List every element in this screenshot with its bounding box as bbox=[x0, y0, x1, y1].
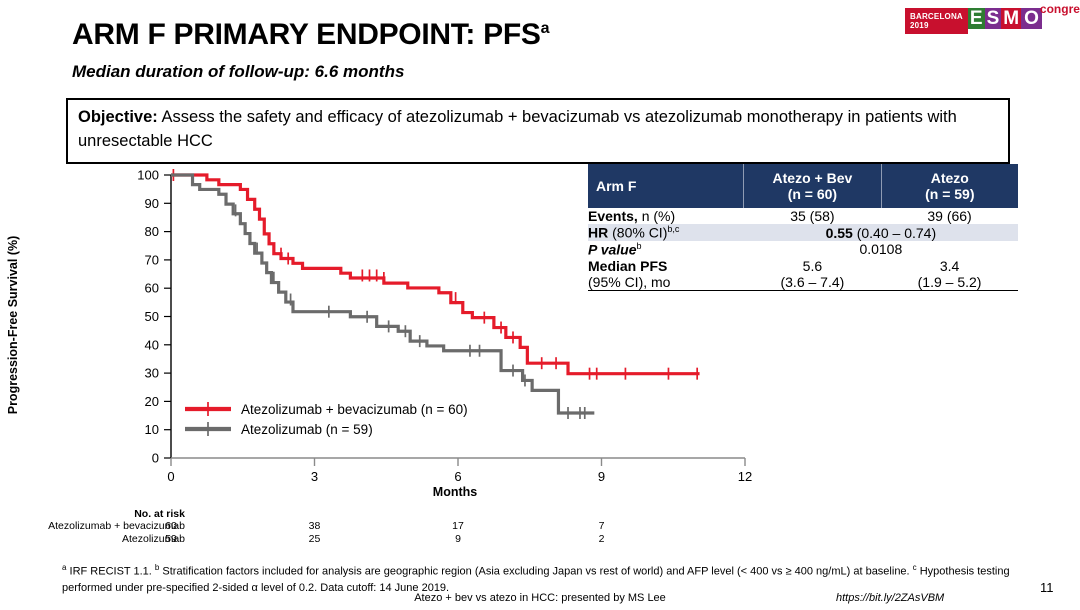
row-value-atezo-line1: 3.4 bbox=[881, 258, 1018, 274]
y-tick-label: 40 bbox=[145, 337, 159, 352]
row-value-atezo-bev-line2: (3.6 – 7.4) bbox=[744, 274, 881, 290]
y-tick-label: 100 bbox=[137, 168, 159, 183]
row-value-atezo-line1: 39 (66) bbox=[881, 208, 1018, 224]
y-tick-label: 10 bbox=[145, 422, 159, 437]
logo-letter-e: E bbox=[968, 8, 985, 29]
results-table-head: Arm F Atezo + Bev (n = 60) Atezo (n = 59… bbox=[588, 164, 1018, 208]
y-tick-label: 80 bbox=[145, 224, 159, 239]
risk-value: 9 bbox=[443, 533, 473, 545]
esmo-congress-logo: BARCELONA 2019 ESMO congress bbox=[905, 3, 1080, 33]
y-tick-label: 70 bbox=[145, 252, 159, 267]
y-tick-label: 90 bbox=[145, 196, 159, 211]
logo-barcelona-line2: 2019 bbox=[910, 21, 963, 30]
header-cell-arm: Arm F bbox=[588, 164, 744, 208]
x-axis-label-text: Months bbox=[433, 485, 477, 499]
row-label-bold: Events, bbox=[588, 208, 638, 224]
risk-value: 25 bbox=[300, 533, 330, 545]
legend-label: Atezolizumab (n = 59) bbox=[241, 422, 373, 437]
y-tick-label: 30 bbox=[145, 366, 159, 381]
results-table-body: Events, n (%)35 (58)39 (66)HR (80% CI)b,… bbox=[588, 208, 1018, 290]
series-line bbox=[171, 175, 594, 413]
row-value-bold: 0.55 bbox=[826, 225, 853, 241]
risk-value: 7 bbox=[587, 520, 617, 532]
y-tick-label: 50 bbox=[145, 309, 159, 324]
x-tick-label: 9 bbox=[598, 469, 605, 484]
logo-barcelona-line1: BARCELONA bbox=[910, 12, 963, 21]
header-atezo-line1: Atezo bbox=[890, 170, 1010, 186]
row-value-rest: 0.0108 bbox=[859, 241, 902, 257]
risk-value: 38 bbox=[300, 520, 330, 532]
footnote-text-a: IRF RECIST 1.1. bbox=[66, 566, 154, 578]
objective-text: Assess the safety and efficacy of atezol… bbox=[78, 108, 957, 150]
y-axis-label-text: Progression-Free Survival (%) bbox=[6, 236, 20, 415]
table-row: Events, n (%)35 (58)39 (66) bbox=[588, 208, 1018, 224]
y-tick-label: 60 bbox=[145, 281, 159, 296]
header-cell-atezo: Atezo (n = 59) bbox=[881, 164, 1018, 208]
row-label-cell: P valueb bbox=[588, 241, 744, 258]
header-cell-atezo-bev: Atezo + Bev (n = 60) bbox=[744, 164, 881, 208]
row-value-atezo: 3.4(1.9 – 5.2) bbox=[881, 258, 1018, 291]
y-tick-label: 20 bbox=[145, 394, 159, 409]
row-label-rest: n (%) bbox=[638, 208, 675, 224]
objective-label: Objective: bbox=[78, 108, 158, 126]
header-atezo-bev-line1: Atezo + Bev bbox=[752, 170, 872, 186]
slide-number: 11 bbox=[1040, 580, 1054, 595]
barcelona-2019-badge: BARCELONA 2019 bbox=[905, 8, 968, 34]
esmo-wordmark: ESMO bbox=[968, 8, 1042, 29]
row-value-atezo-line2: (1.9 – 5.2) bbox=[881, 274, 1018, 290]
row-label-footnote-marker: b,c bbox=[667, 224, 679, 234]
header-arm-label: Arm F bbox=[588, 172, 743, 200]
table-row: Median PFS(95% CI), mo5.6(3.6 – 7.4)3.4(… bbox=[588, 258, 1018, 291]
short-url-link[interactable]: https://bit.ly/2ZAsVBM bbox=[836, 592, 944, 604]
x-tick-label: 6 bbox=[454, 469, 461, 484]
row-value-atezo-bev: 35 (58) bbox=[744, 208, 881, 224]
x-tick-label: 0 bbox=[167, 469, 174, 484]
row-label-cell: Median PFS(95% CI), mo bbox=[588, 258, 744, 291]
y-axis-ticks: 0102030405060708090100 bbox=[137, 168, 171, 466]
logo-letter-s: S bbox=[985, 8, 1002, 29]
legend-label: Atezolizumab + bevacizumab (n = 60) bbox=[241, 402, 468, 417]
footnote-text-b: Stratification factors included for anal… bbox=[159, 566, 912, 578]
objective-box: Objective: Assess the safety and efficac… bbox=[66, 98, 1010, 164]
logo-letter-o: O bbox=[1021, 8, 1042, 29]
logo-congress-text: congress bbox=[1040, 3, 1080, 15]
risk-value: 17 bbox=[443, 520, 473, 532]
table-row: HR (80% CI)b,c0.55 (0.40 – 0.74) bbox=[588, 224, 1018, 241]
row-label-bold: Median PFS bbox=[588, 258, 667, 274]
row-value-atezo-bev-line1: 35 (58) bbox=[744, 208, 881, 224]
row-label-footnote-marker: b bbox=[637, 241, 642, 251]
row-label-cell: HR (80% CI)b,c bbox=[588, 224, 744, 241]
row-value-atezo-bev: 5.6(3.6 – 7.4) bbox=[744, 258, 881, 291]
y-tick-label: 0 bbox=[152, 451, 159, 466]
risk-value: 59 bbox=[156, 533, 186, 545]
table-header-row: Arm F Atezo + Bev (n = 60) Atezo (n = 59… bbox=[588, 164, 1018, 208]
chart-legend: Atezolizumab + bevacizumab (n = 60)Atezo… bbox=[185, 402, 468, 437]
results-table: Arm F Atezo + Bev (n = 60) Atezo (n = 59… bbox=[588, 164, 1018, 291]
row-label-bold: HR bbox=[588, 225, 608, 241]
row-label-rest: (80% CI) bbox=[608, 225, 667, 241]
chart-series-1 bbox=[171, 175, 594, 419]
number-at-risk-title: No. at risk bbox=[0, 508, 185, 520]
table-row: P valueb0.0108 bbox=[588, 241, 1018, 258]
x-tick-label: 12 bbox=[738, 469, 752, 484]
logo-letter-m: M bbox=[1001, 8, 1021, 29]
x-axis-ticks: 036912 bbox=[167, 458, 752, 484]
header-atezo-bev-line2: (n = 60) bbox=[752, 186, 872, 202]
page-title: ARM F PRIMARY ENDPOINT: PFSa bbox=[72, 18, 549, 52]
row-label-bold: P value bbox=[588, 242, 637, 258]
risk-value: 2 bbox=[587, 533, 617, 545]
page-title-text: ARM F PRIMARY ENDPOINT: PFS bbox=[72, 18, 541, 51]
row-label-cell: Events, n (%) bbox=[588, 208, 744, 224]
row-value-atezo: 39 (66) bbox=[881, 208, 1018, 224]
x-tick-label: 3 bbox=[311, 469, 318, 484]
page-subtitle: Median duration of follow-up: 6.6 months bbox=[72, 62, 404, 82]
risk-value: 60 bbox=[156, 520, 186, 532]
row-value-span-cell: 0.0108 bbox=[744, 241, 1018, 258]
row-value-atezo-bev-line1: 5.6 bbox=[744, 258, 881, 274]
y-axis-label: Progression-Free Survival (%) bbox=[6, 236, 20, 415]
header-atezo-line2: (n = 59) bbox=[890, 186, 1010, 202]
row-label-line2: (95% CI), mo bbox=[588, 274, 744, 290]
row-value-span-cell: 0.55 (0.40 – 0.74) bbox=[744, 224, 1018, 241]
row-value-rest: (0.40 – 0.74) bbox=[853, 225, 936, 241]
page-title-footnote-marker: a bbox=[541, 20, 550, 37]
